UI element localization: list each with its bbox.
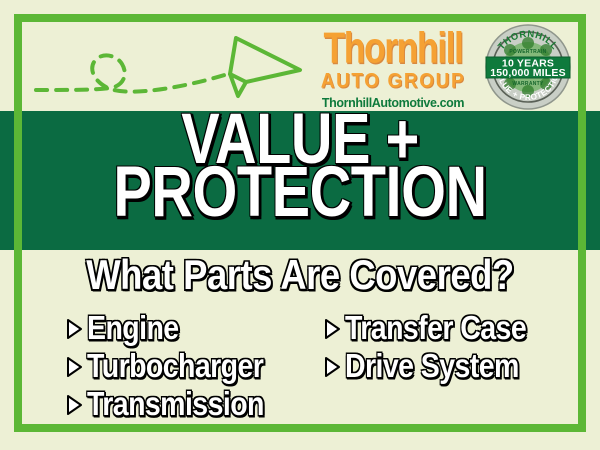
seal-warranty-text: WARRANTY [512, 81, 544, 87]
headline-band [0, 111, 600, 250]
seal-miles-text: 150,000 MILES [490, 67, 566, 79]
triangle-right-icon [322, 355, 342, 379]
dashed-loop-arrow-icon [32, 28, 317, 108]
logo-wordmark: Thornhill [317, 26, 469, 70]
list-item: Turbocharger [64, 348, 304, 386]
coverage-section: What Parts Are Covered? Engine [22, 252, 578, 424]
coverage-item-label: Transfer Case [345, 310, 526, 348]
coverage-item-label: Turbocharger [87, 348, 263, 386]
triangle-right-icon [322, 317, 342, 341]
coverage-item-label: Engine [87, 310, 179, 348]
list-item: Transmission [64, 386, 304, 424]
triangle-right-icon [64, 393, 84, 417]
coverage-item-label: Transmission [87, 386, 264, 424]
seal-powertrain-text: POWERTRAIN [509, 49, 546, 55]
warranty-seal-badge: THORNHILL VALUE + PROTECTION POWERTRAIN … [484, 23, 572, 111]
logo-subtitle: AUTO GROUP [314, 71, 472, 92]
header-zone: Thornhill AUTO GROUP ThornhillAutomotive… [22, 22, 578, 111]
triangle-right-icon [64, 317, 84, 341]
coverage-subheading: What Parts Are Covered? [33, 253, 567, 300]
list-item: Engine [64, 310, 304, 348]
logo-website-url: ThornhillAutomotive.com [314, 97, 472, 110]
coverage-column-right: Transfer Case Drive System [304, 310, 578, 424]
advertisement-banner: Thornhill AUTO GROUP ThornhillAutomotive… [0, 0, 600, 450]
coverage-columns: Engine Turbocharger [22, 310, 578, 424]
list-item: Drive System [322, 348, 578, 386]
coverage-item-label: Drive System [345, 348, 519, 386]
thornhill-logo: Thornhill AUTO GROUP ThornhillAutomotive… [314, 26, 472, 110]
list-item: Transfer Case [322, 310, 578, 348]
coverage-column-left: Engine Turbocharger [22, 310, 304, 424]
triangle-right-icon [64, 355, 84, 379]
